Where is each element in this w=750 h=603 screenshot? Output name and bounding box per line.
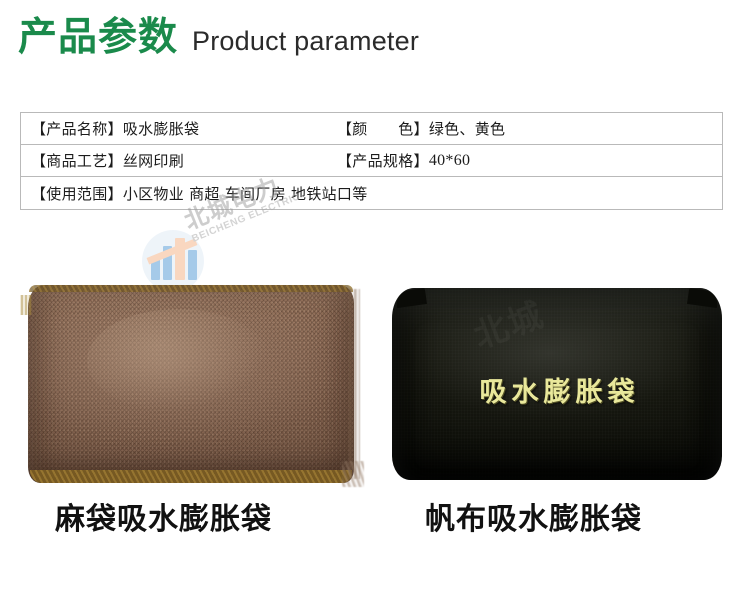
burlap-sack-body — [28, 285, 354, 483]
spec-cell-color: 【颜 色】 绿色、黄色 — [337, 118, 722, 139]
logo-bar-1 — [151, 258, 160, 280]
canvas-corner-top-left — [395, 288, 427, 308]
page-title-cn: 产品参数 — [18, 18, 178, 57]
burlap-top-seam — [29, 285, 353, 292]
table-row: 【使用范围】 小区物业 商超 车间厂房 地铁站口等 — [21, 177, 722, 209]
spec-label: 【产品名称】 — [31, 118, 123, 139]
burlap-bottom-seam — [30, 470, 352, 483]
spec-value: 吸水膨胀袋 — [123, 118, 200, 139]
logo-bar-2 — [163, 246, 172, 280]
caption-burlap-bag: 麻袋吸水膨胀袋 — [55, 505, 272, 535]
product-image-burlap — [20, 278, 368, 494]
page-title-en: Product parameter — [192, 28, 419, 55]
canvas-corner-top-right — [687, 288, 719, 308]
table-row: 【商品工艺】 丝网印刷 【产品规格】 40*60 — [21, 145, 722, 177]
spec-label: 【产品规格】 — [337, 150, 429, 171]
logo-bar-3 — [175, 238, 185, 280]
logo-bar-4 — [188, 250, 197, 280]
spec-value: 丝网印刷 — [123, 150, 184, 171]
canvas-bag-body: 北城 吸水膨胀袋 — [392, 288, 722, 480]
spec-cell-product-name: 【产品名称】 吸水膨胀袋 — [21, 118, 337, 139]
burlap-highlight — [87, 309, 270, 412]
spec-label: 【颜 色】 — [337, 118, 429, 139]
spec-cell-craft: 【商品工艺】 丝网印刷 — [21, 150, 337, 171]
page-header: 产品参数 Product parameter — [18, 18, 419, 57]
logo-slash-icon — [147, 239, 198, 265]
spec-value: 小区物业 商超 车间厂房 地铁站口等 — [123, 183, 368, 204]
spec-cell-usage-scope: 【使用范围】 小区物业 商超 车间厂房 地铁站口等 — [21, 183, 722, 204]
spec-label: 【使用范围】 — [31, 183, 123, 204]
burlap-fray-right — [348, 289, 360, 479]
canvas-bag-print-text: 吸水膨胀袋 — [475, 379, 640, 406]
spec-cell-size: 【产品规格】 40*60 — [337, 150, 722, 171]
burlap-fray-left — [20, 295, 32, 315]
caption-canvas-bag: 帆布吸水膨胀袋 — [425, 505, 642, 535]
spec-value: 绿色、黄色 — [429, 118, 506, 139]
spec-label: 【商品工艺】 — [31, 150, 123, 171]
product-image-canvas: 北城 吸水膨胀袋 — [385, 278, 733, 494]
spec-value: 40*60 — [429, 152, 471, 170]
table-row: 【产品名称】 吸水膨胀袋 【颜 色】 绿色、黄色 — [21, 113, 722, 145]
product-spec-table: 【产品名称】 吸水膨胀袋 【颜 色】 绿色、黄色 【商品工艺】 丝网印刷 【产品… — [20, 112, 723, 210]
canvas-bag-overlay-watermark: 北城 — [466, 287, 550, 358]
burlap-fray-bottom-right — [342, 461, 364, 487]
